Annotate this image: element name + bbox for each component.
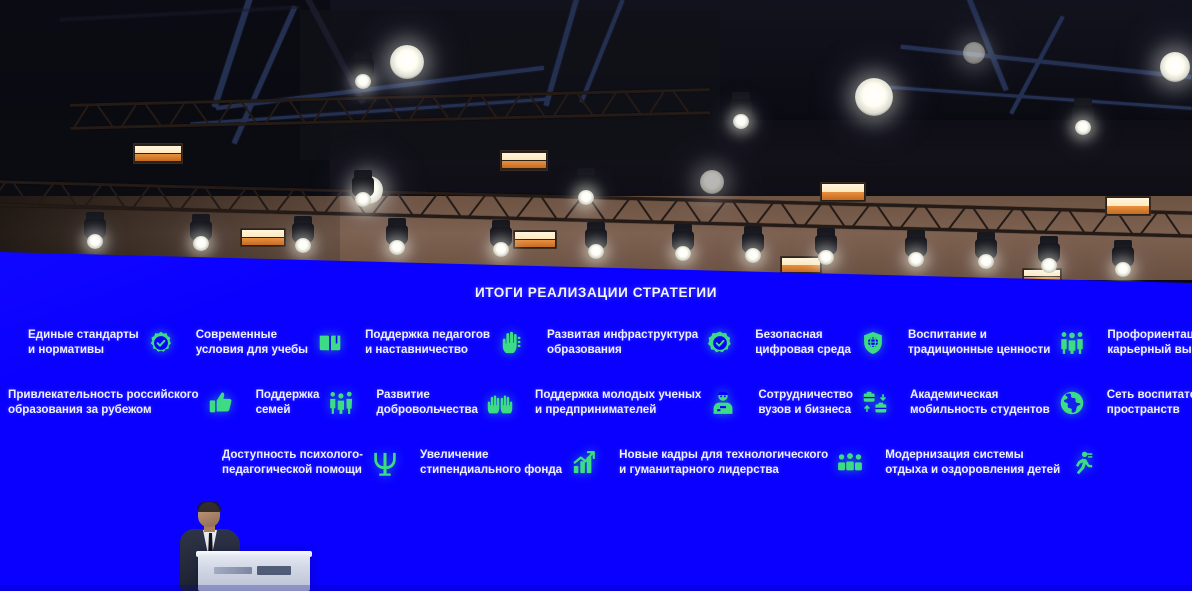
slide-items-grid: Единые стандарты и нормативы Современные… — [0, 313, 1192, 493]
warm-light-panel — [820, 182, 866, 202]
warm-light-panel — [500, 150, 548, 171]
item-label: Новые кадры для технологического и гуман… — [619, 448, 828, 477]
speaker-hair — [197, 501, 221, 512]
item-label: Увеличение стипендиального фонда — [420, 448, 562, 477]
item-label: Поддержка педагогов и наставничество — [365, 328, 490, 357]
podium-logo-mark-left — [214, 567, 252, 574]
warm-light-panel — [133, 143, 183, 164]
stage-light-glow — [1160, 52, 1190, 82]
item-label: Поддержка семей — [256, 388, 320, 417]
slide-row-3: Доступность психолого- педагогической по… — [0, 433, 1192, 493]
stage-light-glow — [390, 45, 424, 79]
helping-hand-icon — [499, 330, 525, 356]
stage-light-glow — [855, 78, 893, 116]
slide-item: Увеличение стипендиального фонда — [420, 448, 597, 477]
slide-item: Поддержка семей — [256, 388, 355, 417]
family-values-icon — [1059, 330, 1085, 356]
slide-item: Поддержка педагогов и наставничество — [365, 328, 525, 357]
briefcase-exchange-icon — [862, 390, 888, 416]
item-label: Профориентация и карьерный выбор — [1107, 328, 1192, 357]
stage-floor-shadow — [0, 585, 1192, 591]
slide-item: Развитая инфраструктура образования — [547, 328, 733, 357]
item-label: Безопасная цифровая среда — [755, 328, 851, 357]
open-book-icon — [317, 330, 343, 356]
item-label: Поддержка молодых ученых и предпринимате… — [535, 388, 701, 417]
slide-item: Поддержка молодых ученых и предпринимате… — [535, 388, 736, 417]
slide-item: Безопасная цифровая среда — [755, 328, 886, 357]
item-label: Модернизация системы отдыха и оздоровлен… — [885, 448, 1060, 477]
slide-item: Сеть воспитательных пространств — [1107, 388, 1192, 417]
podium-logo-mark-right — [257, 566, 291, 575]
thumbs-up-icon — [208, 390, 234, 416]
slide-row-1: Единые стандарты и нормативы Современные… — [0, 313, 1192, 373]
slide-item: Сотрудничество вузов и бизнеса — [758, 388, 888, 417]
stage-light-glow — [700, 170, 724, 194]
slide-item: Академическая мобильность студентов — [910, 388, 1085, 417]
item-label: Современные условия для учебы — [196, 328, 308, 357]
warm-light-panel — [1105, 196, 1151, 216]
slide-item: Профориентация и карьерный выбор — [1107, 328, 1192, 357]
people-group-icon — [837, 450, 863, 476]
item-label: Воспитание и традиционные ценности — [908, 328, 1050, 357]
shield-globe-icon — [860, 330, 886, 356]
item-label: Развитие добровольчества — [376, 388, 478, 417]
podium-logo — [214, 564, 296, 576]
slide-item: Современные условия для учебы — [196, 328, 343, 357]
running-person-icon — [1069, 450, 1095, 476]
slide-item: Развитие добровольчества — [376, 388, 513, 417]
gear-check-icon — [707, 330, 733, 356]
podium-top-surface — [196, 551, 312, 557]
slide-item: Единые стандарты и нормативы — [28, 328, 174, 357]
conference-stage-photo: ИТОГИ РЕАЛИЗАЦИИ СТРАТЕГИИ Единые станда… — [0, 0, 1192, 591]
item-label: Академическая мобильность студентов — [910, 388, 1050, 417]
family-group-icon — [328, 390, 354, 416]
item-label: Доступность психолого- педагогической по… — [222, 448, 363, 477]
slide-item: Доступность психолого- педагогической по… — [222, 448, 398, 477]
raised-hands-icon — [487, 390, 513, 416]
item-label: Сотрудничество вузов и бизнеса — [758, 388, 853, 417]
warm-light-panel — [780, 256, 822, 274]
slide-item: Новые кадры для технологического и гуман… — [619, 448, 863, 477]
item-label: Привлекательность российского образовани… — [8, 388, 199, 417]
warm-light-panel — [240, 228, 286, 247]
warm-light-panel — [513, 230, 557, 249]
item-label: Развитая инфраструктура образования — [547, 328, 698, 357]
slide-item: Модернизация системы отдыха и оздоровлен… — [885, 448, 1095, 477]
slide-row-2: Привлекательность российского образовани… — [0, 373, 1192, 433]
psi-icon — [372, 450, 398, 476]
slide-item: Привлекательность российского образовани… — [8, 388, 234, 417]
slide-item: Воспитание и традиционные ценности — [908, 328, 1085, 357]
badge-check-icon — [148, 330, 174, 356]
globe-icon — [1059, 390, 1085, 416]
growth-chart-icon — [571, 450, 597, 476]
slide-title: ИТОГИ РЕАЛИЗАЦИИ СТРАТЕГИИ — [0, 285, 1192, 300]
item-label: Единые стандарты и нормативы — [28, 328, 139, 357]
item-label: Сеть воспитательных пространств — [1107, 388, 1192, 417]
stage-light-glow — [963, 42, 985, 64]
scientist-icon — [710, 390, 736, 416]
